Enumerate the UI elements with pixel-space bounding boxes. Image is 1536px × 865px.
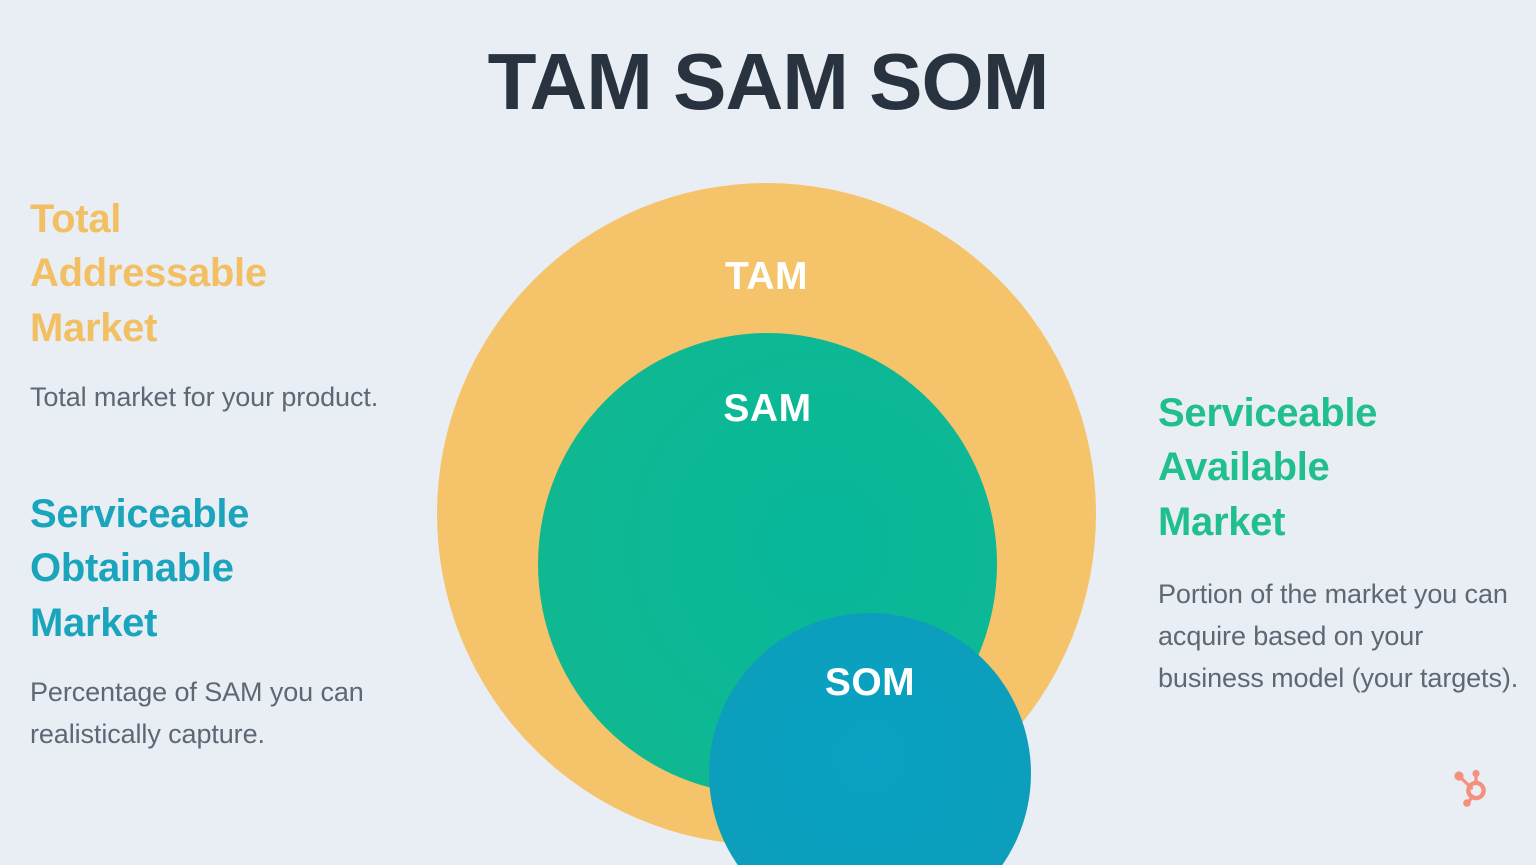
legend-block-tam: Total Addressable Market Total market fo… (30, 192, 400, 419)
circle-label-tam: TAM (437, 255, 1096, 299)
legend-body-tam: Total market for your product. (30, 377, 400, 419)
legend-heading-som: Serviceable Obtainable Market (30, 487, 400, 650)
legend-heading-tam-line2: Addressable (30, 246, 400, 300)
legend-heading-sam-line2: Available (1158, 440, 1533, 494)
circle-som: SOM (709, 613, 1031, 865)
circle-sam: SAM SOM (538, 333, 997, 795)
right-legend-column: Serviceable Available Market Portion of … (1158, 386, 1533, 700)
legend-heading-tam-line3: Market (30, 301, 400, 355)
circle-tam: TAM SAM SOM (437, 183, 1096, 845)
legend-heading-som-line1: Serviceable (30, 487, 400, 541)
legend-body-sam: Portion of the market you can acquire ba… (1158, 574, 1533, 700)
legend-heading-sam-line1: Serviceable (1158, 386, 1533, 440)
left-legend-column: Total Addressable Market Total market fo… (30, 192, 400, 756)
legend-heading-sam: Serviceable Available Market (1158, 386, 1533, 549)
legend-heading-tam-line1: Total (30, 192, 400, 246)
tam-sam-som-diagram: TAM SAM SOM (437, 183, 1096, 845)
circle-label-som: SOM (709, 661, 1031, 705)
circle-label-sam: SAM (538, 387, 997, 431)
page-title: TAM SAM SOM (0, 40, 1536, 124)
legend-block-som: Serviceable Obtainable Market Percentage… (30, 487, 400, 756)
legend-heading-tam: Total Addressable Market (30, 192, 400, 355)
legend-heading-som-line2: Obtainable (30, 541, 400, 595)
legend-heading-sam-line3: Market (1158, 495, 1533, 549)
hubspot-sprocket-icon (1446, 762, 1494, 810)
legend-body-som: Percentage of SAM you can realistically … (30, 672, 400, 756)
legend-block-sam: Serviceable Available Market Portion of … (1158, 386, 1533, 700)
legend-heading-som-line3: Market (30, 596, 400, 650)
